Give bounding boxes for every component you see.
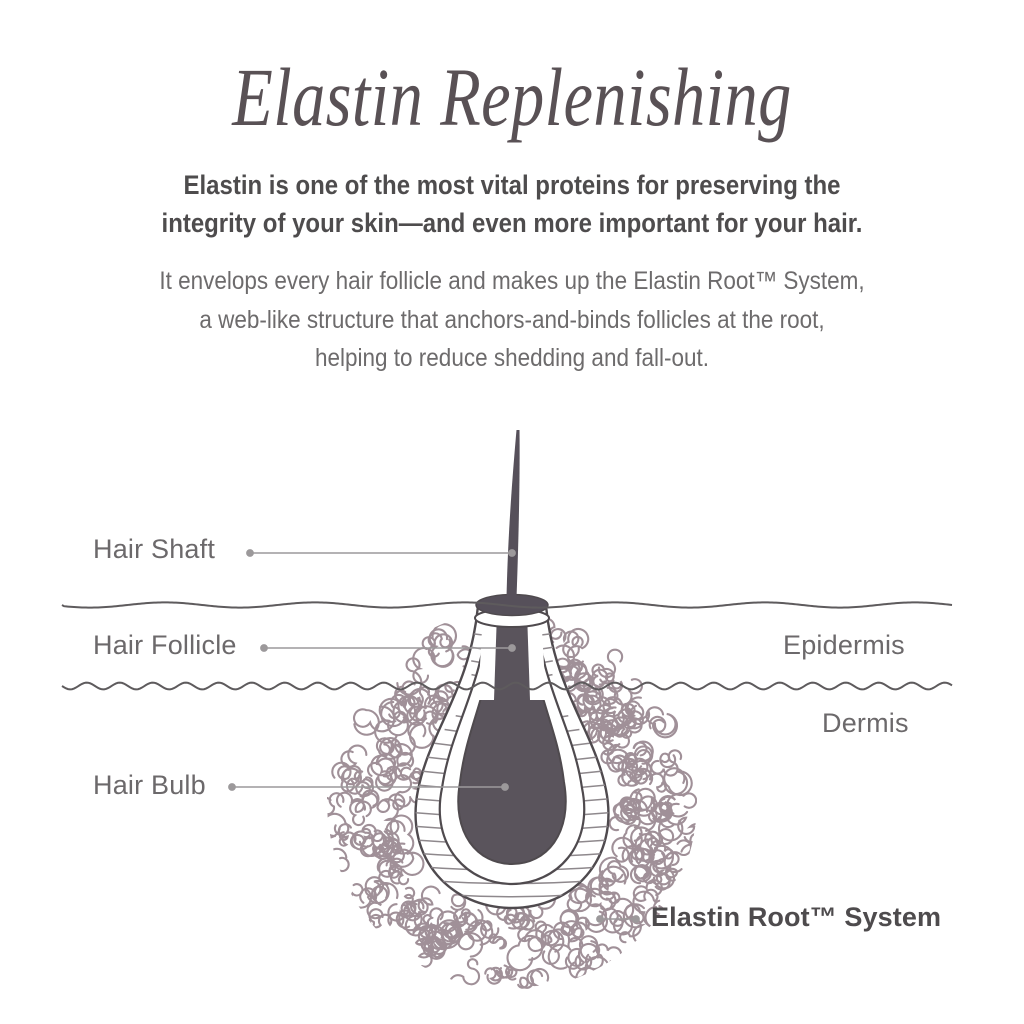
label-hair-follicle: Hair Follicle [93,630,237,661]
label-dermis: Dermis [822,708,909,739]
label-epidermis: Epidermis [783,630,905,661]
infographic-page: Elastin Replenishing Elastin is one of t… [0,0,1024,1024]
label-hair-shaft: Hair Shaft [93,534,215,565]
label-hair-bulb: Hair Bulb [93,770,206,801]
hair-shaft [507,430,520,598]
label-elastin-root-system: Elastin Root™ System [651,902,941,933]
hair-follicle-diagram [0,0,1024,1024]
